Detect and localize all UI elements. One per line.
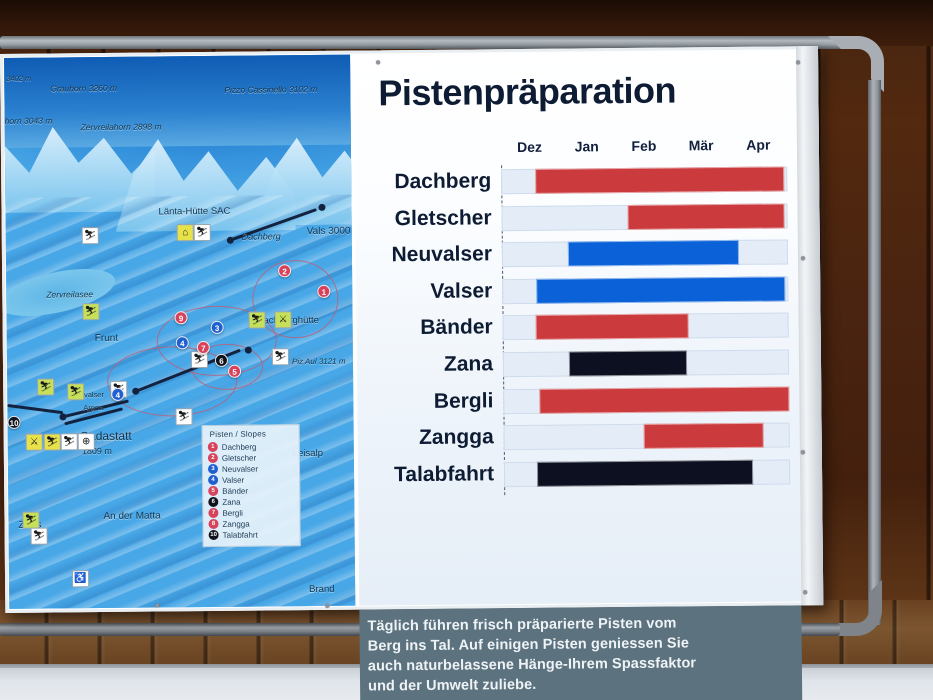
legend-badge: 8 <box>208 519 218 529</box>
map-slope-number-pin: 7 <box>197 341 210 354</box>
legend-label: Valser <box>222 475 244 484</box>
map-facility-icon: ⚔ <box>26 434 43 451</box>
legend-badge: 5 <box>208 486 218 496</box>
chart-bar-dachberg <box>535 166 784 193</box>
map-facility-icon: ⚔ <box>274 311 291 328</box>
map-legend: Pisten / Slopes 1Dachberg2Gletscher3Neuv… <box>202 424 301 547</box>
map-facility-icon: ⛷ <box>82 303 99 320</box>
map-facility-icon: ⛷ <box>272 348 289 365</box>
map-slope-number-pin: 1 <box>317 285 330 298</box>
chart-bar-zangga <box>644 423 764 449</box>
legend-badge: 2 <box>208 453 218 463</box>
footer-line: und der Umwelt zuliebe. <box>368 672 798 696</box>
map-facility-icon: ⊕ <box>78 433 95 450</box>
lift-station-dot <box>318 204 325 211</box>
chart-bar-bergli <box>539 386 789 413</box>
chart-bar-valser <box>536 276 785 303</box>
month-label-feb: Feb <box>631 138 656 154</box>
legend-badge: 7 <box>208 508 218 518</box>
legend-item: 2Gletscher <box>208 452 294 463</box>
chart-row: Zangga <box>358 419 800 460</box>
legend-title: Pisten / Slopes <box>210 429 294 439</box>
map-label: Grauhorn 3260 m <box>50 83 117 94</box>
map-label: 3402 m <box>6 74 31 83</box>
chart-row: Zana <box>357 345 799 386</box>
map-label: Brand <box>309 584 334 595</box>
map-facility-icon: ⛷ <box>31 528 48 545</box>
chart-row-label: Gletscher <box>395 206 492 231</box>
piste-map: 3402 mGrauhorn 3260 mPizzo Cassinello 31… <box>4 55 355 609</box>
information-board: 3402 mGrauhorn 3260 mPizzo Cassinello 31… <box>0 46 823 613</box>
chart-row-label: Zana <box>444 352 493 376</box>
map-slope-number-pin: 6 <box>215 354 228 367</box>
chart-row: Dachberg <box>355 162 797 203</box>
pipe-vertical <box>868 80 881 625</box>
footer-paragraph: Täglich führen frisch präparierte Pisten… <box>367 612 798 696</box>
legend-item: 5Bänder <box>208 485 294 496</box>
footer-band: Täglich führen frisch präparierte Pisten… <box>359 605 802 700</box>
chart-row: Valser <box>356 272 798 313</box>
lift-station-dot <box>59 413 66 420</box>
chart-row-label: Valser <box>430 279 492 304</box>
map-facility-icon: ⛷ <box>37 378 54 395</box>
month-label-jan: Jan <box>575 138 599 154</box>
map-label: An der Matta <box>103 510 160 522</box>
map-facility-icon: ⛷ <box>248 311 265 328</box>
map-slope-number-pin: 4 <box>176 336 189 349</box>
map-slope-number-pin: 10 <box>7 416 20 429</box>
chart-month-axis: DezJanFebMärApr <box>355 136 797 162</box>
chart-row: Bänder <box>357 309 799 350</box>
chart-bar-talabfahrt <box>537 460 753 487</box>
chart-bar-bänder <box>535 314 688 340</box>
map-facility-icon: ♿ <box>72 570 89 587</box>
map-slope-number-pin: 5 <box>228 365 241 378</box>
legend-badge: 6 <box>208 497 218 507</box>
chart-plot-area: DachbergGletscherNeuvalserValserBänderZa… <box>355 162 800 496</box>
page-title: Pistenpräparation <box>378 70 676 115</box>
legend-item: 10Talabfahrt <box>209 529 295 540</box>
map-facility-icon: ⛷ <box>194 224 211 241</box>
map-label: Länta-Hütte SAC <box>158 206 230 218</box>
legend-label: Zangga <box>222 519 249 528</box>
legend-label: Zana <box>222 497 240 506</box>
map-slope-number-pin: 9 <box>174 311 187 324</box>
legend-badge: 4 <box>208 475 218 485</box>
map-label: Dachberg <box>242 231 281 241</box>
map-label: Pizzo Cassinello 3102 m <box>224 84 317 95</box>
map-slope-number-pin: 3 <box>211 321 224 334</box>
screw <box>803 590 807 594</box>
chart-bar-neuvalser <box>568 240 740 267</box>
month-label-mär: Mär <box>689 137 714 153</box>
screenshot-stage: 3402 mGrauhorn 3260 mPizzo Cassinello 31… <box>0 0 933 700</box>
chart-row: Gletscher <box>355 199 797 240</box>
legend-label: Bänder <box>222 486 248 495</box>
map-label: Arena <box>83 403 103 412</box>
legend-label: Dachberg <box>222 442 257 451</box>
screw <box>155 603 159 607</box>
legend-badge: 1 <box>208 442 218 452</box>
month-label-apr: Apr <box>746 137 770 153</box>
month-label-dez: Dez <box>517 139 542 155</box>
chart-bar-rows: DachbergGletscherNeuvalserValserBänderZa… <box>355 162 797 166</box>
map-label: Frunt <box>95 333 118 344</box>
screw <box>796 60 800 64</box>
map-slope-number-pin: 4 <box>111 388 124 401</box>
map-facility-icon: ⛷ <box>175 408 192 425</box>
lift-station-dot <box>227 237 234 244</box>
map-label: Piz Aul 3121 m <box>292 357 346 367</box>
map-label: Zervreilahorn 2898 m <box>81 121 162 132</box>
legend-label: Bergli <box>222 508 243 517</box>
chart-panel: Pistenpräparation DezJanFebMärApr Dachbe… <box>354 50 801 605</box>
chart-bar-gletscher <box>627 203 785 230</box>
legend-label: Neuvalser <box>222 464 258 473</box>
chart-row-label: Neuvalser <box>391 242 492 267</box>
chart-row-label: Bergli <box>434 389 494 414</box>
screw <box>801 256 805 260</box>
chart-row-label: Zangga <box>419 425 494 450</box>
legend-item: 7Bergli <box>208 507 294 518</box>
map-facility-icon: ⛷ <box>82 227 99 244</box>
map-label: horn 3043 m <box>5 116 53 126</box>
map-facility-icon: ⛷ <box>67 383 84 400</box>
lift-station-dot <box>132 388 139 395</box>
lift-station-dot <box>245 347 252 354</box>
screw <box>801 450 805 454</box>
legend-badge: 3 <box>208 464 218 474</box>
chart-bar-zana <box>569 350 688 376</box>
legend-rows: 1Dachberg2Gletscher3Neuvalser4Valser5Bän… <box>208 441 295 540</box>
screw <box>376 60 380 64</box>
legend-item: 1Dachberg <box>208 441 294 452</box>
map-facility-icon: ⛷ <box>44 433 61 450</box>
legend-item: 3Neuvalser <box>208 463 294 474</box>
legend-item: 8Zangga <box>208 518 294 529</box>
chart-row: Bergli <box>357 382 799 423</box>
map-facility-icon: ⛷ <box>61 433 78 450</box>
legend-badge: 10 <box>209 530 219 540</box>
chart-row-label: Dachberg <box>394 169 491 194</box>
chart-row: Talabfahrt <box>358 455 800 496</box>
legend-label: Gletscher <box>222 453 256 462</box>
map-slope-number-pin: 2 <box>278 264 291 277</box>
map-label: Vals 3000 <box>307 226 351 237</box>
chart-row-label: Talabfahrt <box>394 462 494 487</box>
legend-label: Talabfahrt <box>223 530 258 539</box>
chart-row-label: Bänder <box>420 316 493 341</box>
screw <box>325 604 329 608</box>
map-facility-icon: ⌂ <box>177 224 194 241</box>
chart-row: Neuvalser <box>356 236 798 277</box>
map-facility-icon: ⛷ <box>22 512 39 529</box>
map-label: Zervreilasee <box>46 289 93 299</box>
legend-item: 6Zana <box>208 496 294 507</box>
legend-item: 4Valser <box>208 474 294 485</box>
